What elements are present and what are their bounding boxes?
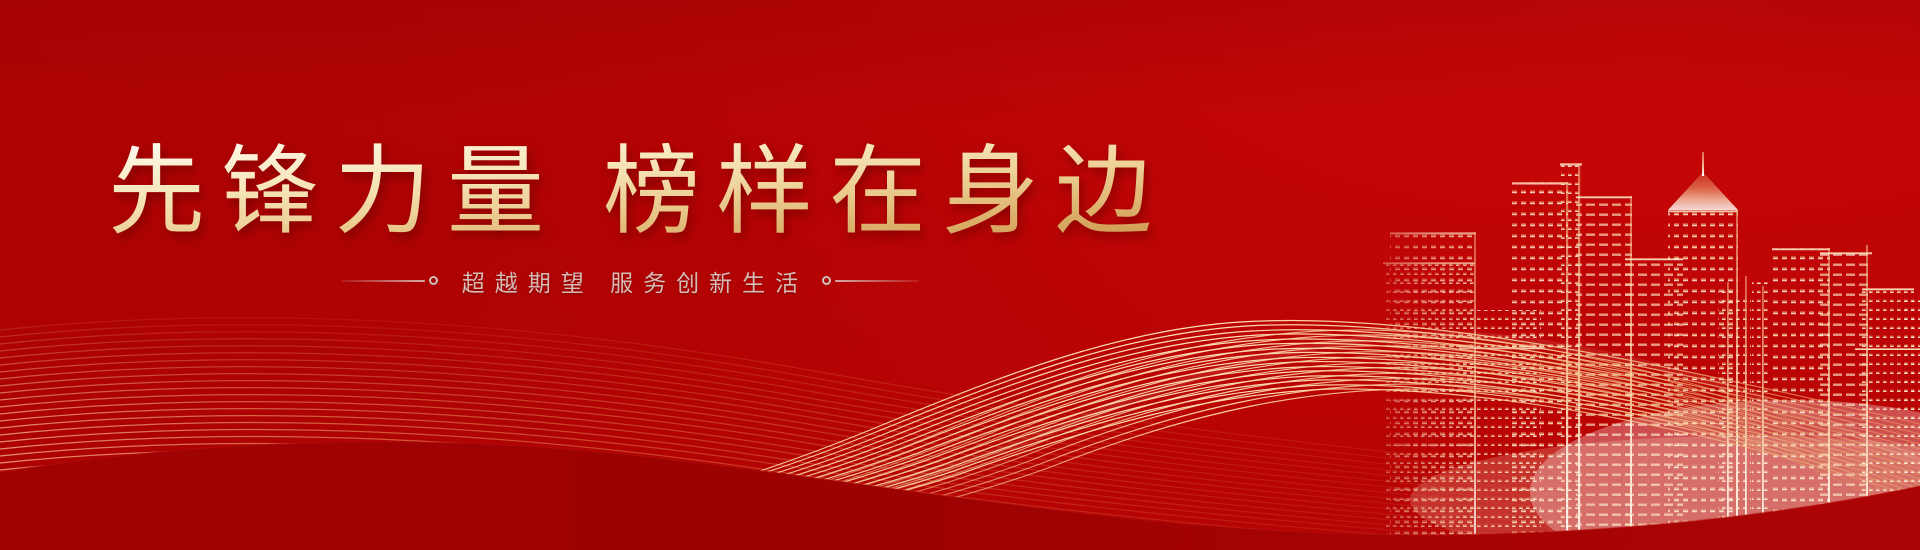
right-rule-decoration — [822, 276, 919, 285]
banner-text-block: 先锋力量 榜样在身边 超越期望 服务创新生活 — [0, 143, 1260, 298]
left-rule-line — [341, 280, 425, 282]
left-rule-decoration — [341, 276, 438, 285]
subtitle-row: 超越期望 服务创新生活 — [0, 264, 1260, 298]
subtitle: 超越期望 服务创新生活 — [452, 264, 808, 298]
right-rule-circle-icon — [822, 276, 831, 285]
promo-banner: 先锋力量 榜样在身边 超越期望 服务创新生活 — [0, 0, 1920, 550]
page-title: 先锋力量 榜样在身边 — [0, 143, 1260, 242]
right-rule-line — [835, 280, 919, 282]
left-rule-circle-icon — [429, 276, 438, 285]
